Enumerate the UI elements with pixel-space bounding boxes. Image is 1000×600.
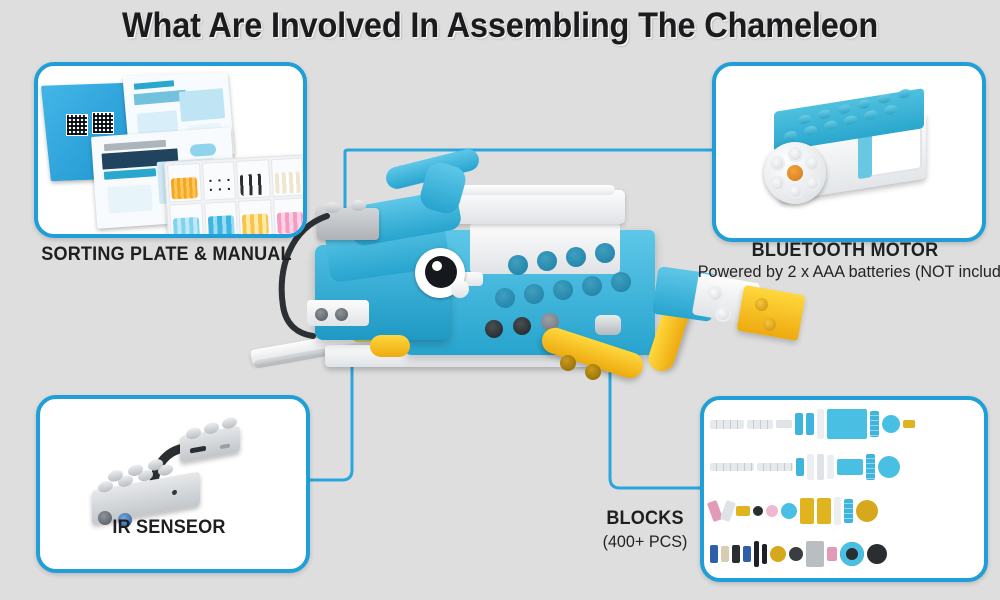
caption-blocks: BLOCKS	[593, 508, 698, 530]
manual-illustration	[38, 66, 303, 234]
panel-bluetooth-motor[interactable]	[712, 62, 986, 242]
infographic-stage: What Are Involved In Assembling The Cham…	[0, 0, 1000, 600]
caption-bluetooth-motor: BLUETOOTH MOTOR	[719, 240, 972, 262]
panel-ir-sensor[interactable]: IR SENSEOR	[36, 395, 310, 573]
caption-bluetooth-motor-sub: Powered by 2 x AAA batteries (NOT includ…	[698, 262, 993, 282]
caption-sorting-plate-manual: SORTING PLATE & MANUAL	[41, 244, 293, 266]
panel-blocks[interactable]	[700, 396, 988, 582]
panel-sorting-plate-manual[interactable]	[34, 62, 307, 238]
caption-ir-sensor: IR SENSEOR	[46, 517, 291, 539]
blocks-illustration	[704, 400, 984, 578]
caption-blocks-sub: (400+ PCS)	[593, 532, 698, 552]
ir-sensor-illustration	[40, 399, 306, 569]
bluetooth-motor-illustration	[716, 66, 982, 238]
